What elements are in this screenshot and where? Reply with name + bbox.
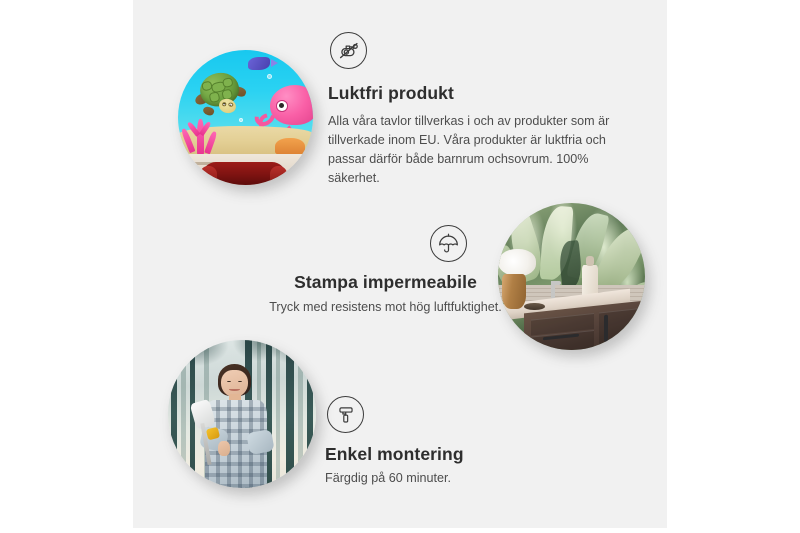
octopus-eye — [276, 100, 289, 112]
feature-title: Luktfri produkt — [328, 83, 628, 104]
feature-body: Färgdig på 60 minuter. — [325, 469, 605, 488]
turtle-illustration — [194, 73, 248, 119]
arm — [247, 429, 275, 455]
feature-body: Tryck med resistens mot hög luftfuktighe… — [218, 298, 553, 317]
umbrella-icon — [430, 225, 467, 262]
product-feature-graphic: Luktfri produkt Alla våra tavlor tillver… — [0, 0, 800, 533]
product-image-sea[interactable] — [178, 50, 313, 185]
feature-title: Stampa impermeabile — [218, 272, 553, 293]
paint-roller-icon — [327, 396, 364, 433]
feature-title: Enkel montering — [325, 444, 605, 465]
hand — [218, 441, 230, 456]
starfish-illustration — [275, 138, 305, 156]
sea-scene — [178, 50, 313, 185]
feature-odorless: Luktfri produkt Alla våra tavlor tillver… — [328, 32, 628, 189]
content-panel: Luktfri produkt Alla våra tavlor tillver… — [133, 0, 667, 528]
feature-waterproof: Stampa impermeabile Tryck med resistens … — [218, 225, 553, 317]
octopus-head — [270, 85, 313, 125]
sofa-arm — [270, 166, 288, 185]
sofa-arm — [200, 166, 218, 185]
coral-illustration — [182, 115, 227, 156]
feature-mounting: Enkel montering Färgdig på 60 minuter. — [325, 396, 605, 488]
perfume-bottle-crossed-out-icon — [330, 32, 367, 69]
woman-illustration — [198, 364, 275, 488]
product-image-painter[interactable] — [168, 340, 316, 488]
feature-body: Alla våra tavlor tillverkas i och av pro… — [328, 112, 628, 189]
painter-scene — [168, 340, 316, 488]
